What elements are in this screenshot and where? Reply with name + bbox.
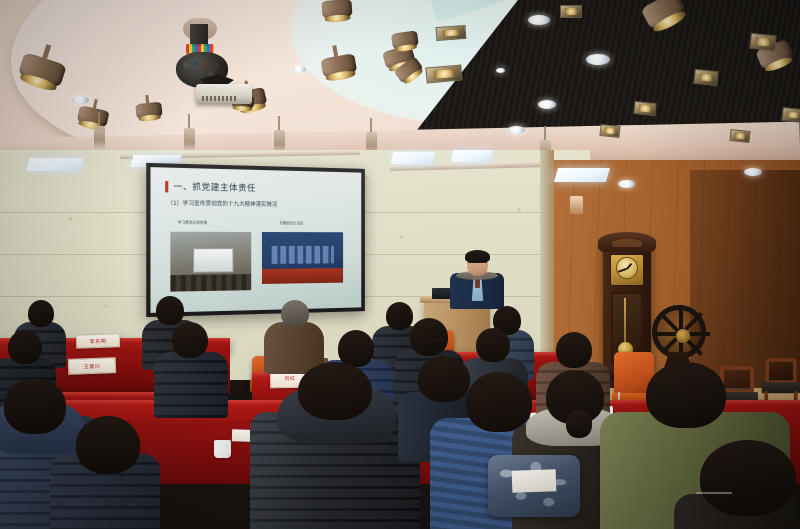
recessed-square-light: [749, 33, 777, 52]
wheel-hub: [676, 329, 690, 343]
slide-title-row: 一、抓党建主体责任: [165, 180, 256, 194]
recessed-downlight: [538, 100, 556, 109]
track-spotlight-icon: [320, 53, 357, 80]
attendee-head: [4, 378, 66, 434]
recessed-square-light: [436, 25, 467, 41]
recessed-square-light: [425, 64, 462, 83]
recessed-downlight: [508, 126, 525, 134]
ponytail: [566, 410, 592, 438]
attendee-head: [281, 300, 309, 327]
attendee-torso: [154, 352, 228, 418]
glasses-icon: [410, 340, 446, 344]
attendee-head: [646, 362, 726, 428]
recessed-downlight: [618, 180, 635, 188]
attendee-head: [466, 372, 532, 432]
attendee-head: [298, 362, 372, 420]
meeting-room-photo: 一、抓党建主体责任 （1）学习宣传贯彻党的十九大精神落实情况 学习贯彻记讲党课 …: [0, 0, 800, 529]
recessed-downlight: [586, 54, 610, 65]
wall-sign-icon: [570, 196, 583, 214]
attendee-head: [556, 332, 592, 368]
recessed-square-light: [633, 101, 656, 116]
name-placard-text: 李东明: [90, 337, 107, 345]
recessed-downlight: [292, 66, 306, 73]
recessed-square-light: [560, 5, 582, 18]
slide-accent-bar: [165, 180, 168, 191]
paper-cup: [214, 440, 231, 458]
paper-on-backpack: [512, 469, 557, 493]
ships-wheel-decoration: [652, 305, 706, 359]
glasses-icon: [468, 262, 487, 266]
recessed-downlight: [72, 96, 89, 104]
clock-pendulum-rod: [624, 298, 626, 346]
attendee-head: [410, 318, 448, 356]
ceiling-panel-light: [26, 158, 83, 171]
attendee-head: [28, 300, 54, 327]
recessed-square-light: [729, 129, 750, 143]
recessed-square-light: [781, 107, 800, 123]
name-placard: 王建兴: [68, 357, 117, 375]
name-placard: 李东明: [76, 333, 120, 349]
attendee-head: [156, 296, 184, 325]
ceiling-projector: [196, 84, 252, 104]
recessed-square-light: [599, 124, 620, 138]
attendee-head: [700, 440, 796, 516]
name-placard-text: 刘红: [284, 374, 295, 381]
projector-mount-neck: [190, 24, 208, 46]
projection-screen: 一、抓党建主体责任 （1）学习宣传贯彻党的十九大精神落实情况 学习贯彻记讲党课 …: [150, 167, 361, 313]
recessed-downlight: [496, 68, 505, 73]
recessed-square-light: [693, 69, 718, 86]
recessed-downlight: [528, 15, 550, 25]
presenter: [448, 252, 506, 306]
slide-subtitle: （1）学习宣传贯彻党的十九大精神落实情况: [167, 199, 277, 209]
ceiling-panel-light: [391, 152, 436, 164]
slide-photo-classroom: [170, 232, 251, 292]
name-placard-text: 王建兴: [84, 362, 101, 370]
recessed-downlight: [744, 168, 762, 176]
chair-back: [765, 358, 796, 384]
track-spotlight-icon: [135, 102, 163, 121]
ceiling-panel-light: [451, 150, 494, 162]
grandfather-clock-bonnet: [598, 232, 656, 252]
attendee-head: [76, 416, 140, 474]
glasses-icon: [696, 492, 732, 496]
ceiling-panel-light: [554, 168, 610, 182]
attendee-head: [8, 330, 42, 364]
track-spotlight-icon: [321, 0, 352, 20]
attendee-head: [418, 356, 470, 402]
slide-photo-caption-1: 学习贯彻记讲党课: [178, 220, 207, 225]
attendee-head: [386, 302, 413, 330]
attendee-head: [172, 322, 208, 358]
slide-photo-caption-2: 专题组织生活会: [279, 221, 303, 226]
attendee-head: [338, 330, 374, 367]
slide-photo-conference: [262, 232, 343, 284]
ceiling: [0, 0, 800, 168]
track-spotlight-icon: [391, 30, 419, 50]
slide-title: 一、抓党建主体责任: [174, 180, 256, 194]
pendant-light-icon: [94, 126, 105, 152]
attendee-head: [476, 328, 510, 362]
